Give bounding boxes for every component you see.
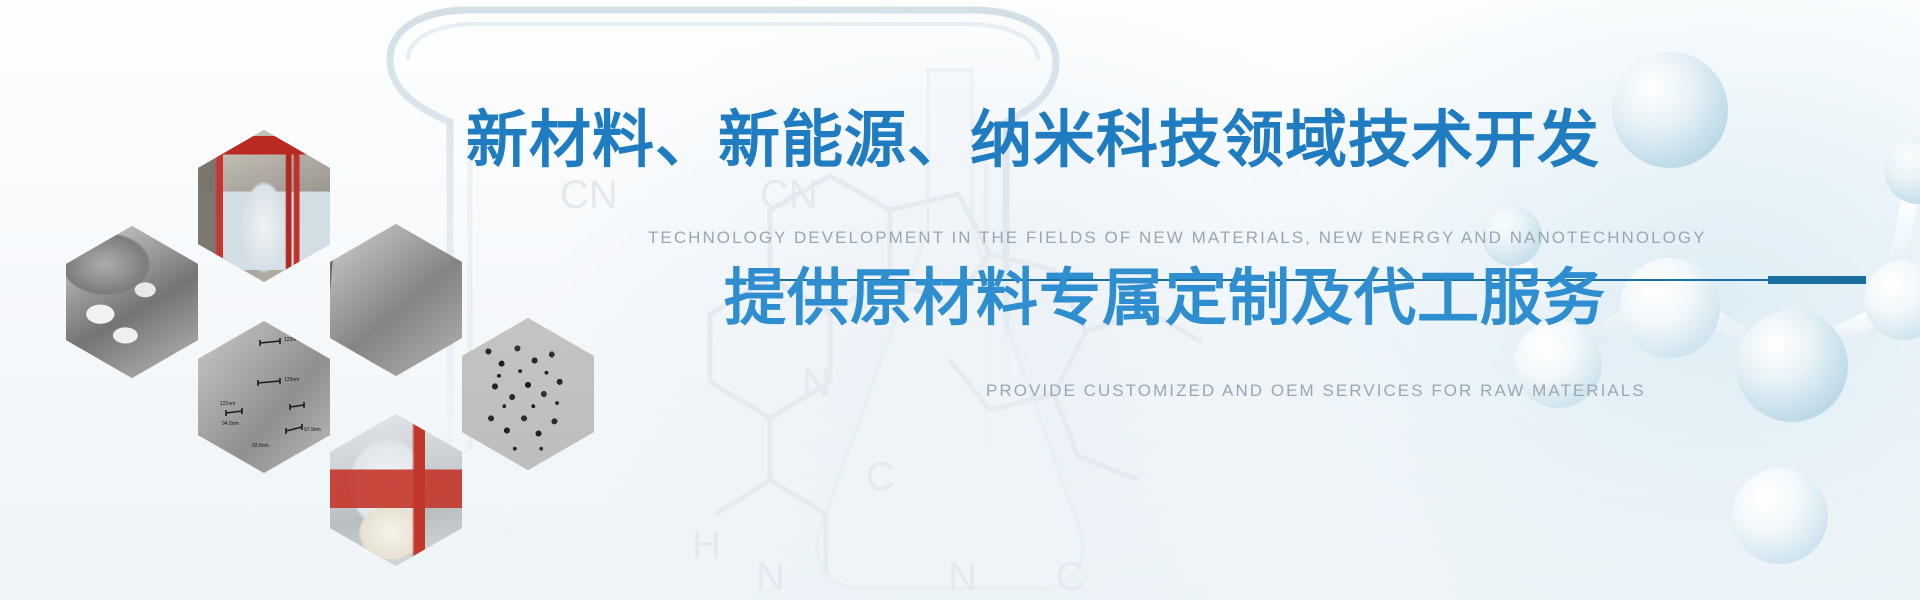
chem-label-c-2: C [1056, 555, 1085, 599]
chem-label-n-3: N [948, 555, 977, 599]
subtitle-primary: TECHNOLOGY DEVELOPMENT IN THE FIELDS OF … [648, 228, 1707, 248]
gallery-hex-sem-nanofibers[interactable]: 123nm 133nm 121nm 94.5nm 97.9nm 93.6nm [198, 321, 330, 473]
svg-text:93.6nm: 93.6nm [252, 443, 269, 449]
svg-text:133nm: 133nm [284, 377, 299, 383]
chem-label-cn-2: CN [760, 173, 818, 217]
gallery-hex-white-powder-flask[interactable] [330, 414, 462, 566]
chem-label-c-1: C [866, 455, 895, 499]
chem-label-n-2: N [756, 555, 785, 599]
svg-text:94.5nm: 94.5nm [222, 421, 239, 427]
gallery-hex-tem-nanoparticles[interactable] [462, 318, 594, 470]
chem-label-h-1: H [692, 523, 721, 567]
headline-secondary: 提供原材料专属定制及代工服务 [724, 268, 1606, 330]
gallery-hex-tem-porous-carbon[interactable] [66, 226, 198, 378]
headline-primary: 新材料、新能源、纳米科技领域技术开发 [466, 110, 1600, 172]
hero-banner: CN CN N H N C N C [0, 0, 1920, 600]
fiber-scale-annotations: 123nm 133nm 121nm 94.5nm 97.9nm 93.6nm [198, 321, 330, 473]
svg-text:121nm: 121nm [220, 401, 235, 407]
svg-text:123nm: 123nm [284, 337, 299, 343]
subtitle-secondary: PROVIDE CUSTOMIZED AND OEM SERVICES FOR … [986, 381, 1646, 401]
divider-end-cap [1768, 276, 1866, 284]
svg-text:97.9nm: 97.9nm [304, 427, 321, 433]
gallery-hex-tem-nanorods[interactable] [330, 224, 462, 376]
chem-label-n-1: N [802, 361, 831, 405]
gallery-hex-reagent-bottle[interactable] [198, 130, 330, 282]
